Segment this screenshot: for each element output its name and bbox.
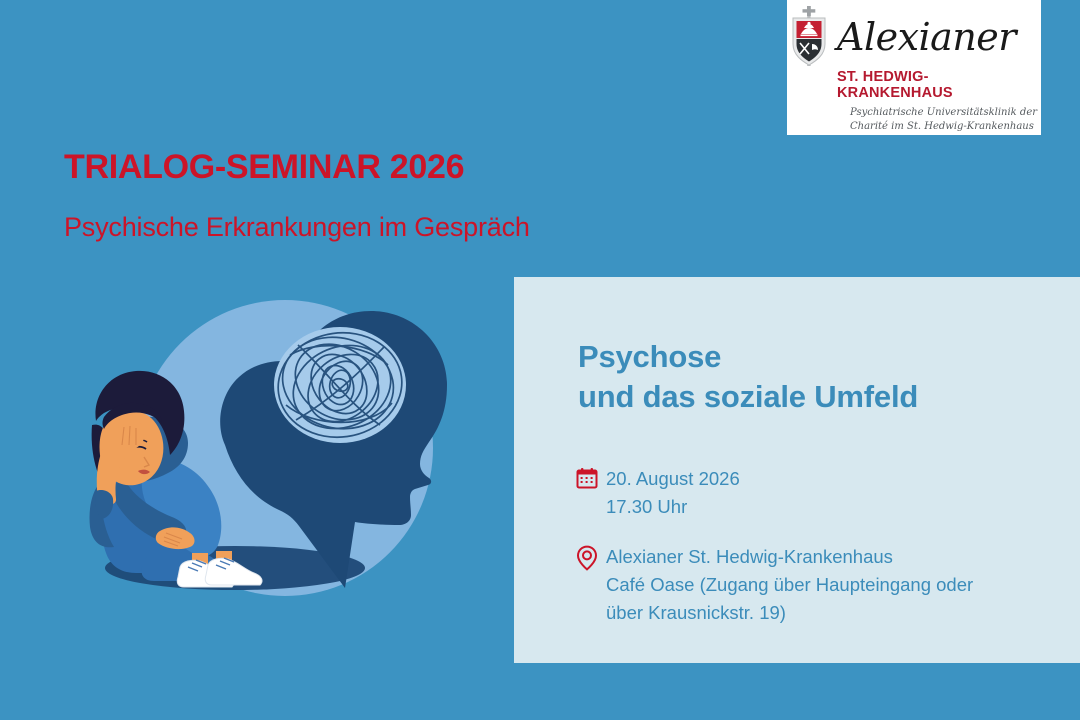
logo-subtitle: ST. HEDWIG-KRANKENHAUS: [837, 69, 1041, 101]
page-subtitle: Psychische Erkrankungen im Gespräch: [64, 212, 530, 243]
event-time-line: 17.30 Uhr: [606, 493, 740, 521]
calendar-icon: [576, 467, 598, 489]
event-location-line3: über Krausnickstr. 19): [606, 599, 973, 627]
event-heading-line2: und das soziale Umfeld: [578, 377, 918, 417]
event-location-text: Alexianer St. Hedwig-Krankenhaus Café Oa…: [606, 543, 973, 627]
event-date-text: 20. August 2026 17.30 Uhr: [606, 465, 740, 521]
page-title: TRIALOG-SEMINAR 2026: [64, 148, 464, 187]
logo-tagline-line2: Charité im St. Hedwig-Krankenhaus: [850, 120, 1037, 134]
event-info-panel: Psychose und das soziale Umfeld 20. Augu…: [514, 277, 1080, 663]
alexianer-logo: Alexianer ST. HEDWIG-KRANKENHAUS Psychia…: [787, 0, 1041, 135]
woman-sitting-with-head-silhouette-illustration: [40, 285, 500, 615]
location-pin-icon: [576, 545, 598, 571]
logo-tagline: Psychiatrische Universitätsklinik der Ch…: [850, 106, 1037, 133]
event-location-line1: Alexianer St. Hedwig-Krankenhaus: [606, 543, 973, 571]
event-date-line1: 20. August 2026: [606, 465, 740, 493]
logo-wordmark: Alexianer: [837, 18, 1016, 56]
coat-of-arms-cross-icon: [787, 6, 831, 68]
event-date-row: 20. August 2026 17.30 Uhr: [576, 465, 740, 521]
logo-tagline-line1: Psychiatrische Universitätsklinik der: [850, 106, 1037, 120]
event-heading-line1: Psychose: [578, 337, 918, 377]
event-heading: Psychose und das soziale Umfeld: [578, 337, 918, 416]
event-location-line2: Café Oase (Zugang über Haupteingang oder: [606, 571, 973, 599]
event-location-row: Alexianer St. Hedwig-Krankenhaus Café Oa…: [576, 543, 973, 627]
